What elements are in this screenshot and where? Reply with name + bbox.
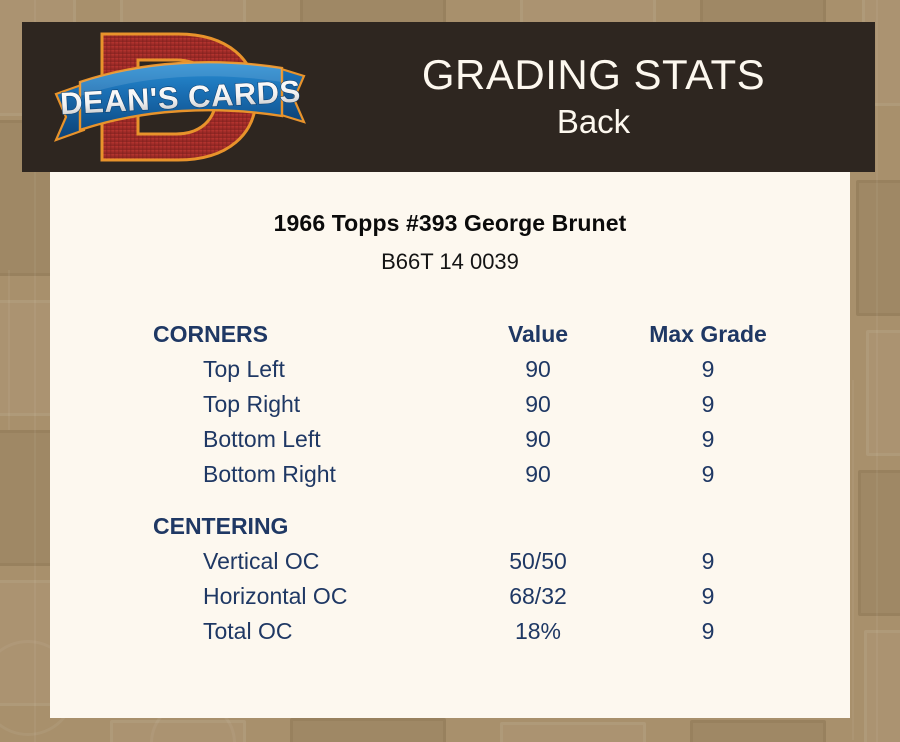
card-serial-number: B66T 14 0039 [50,249,850,275]
grading-stats-table: CORNERS Value Max Grade Top Left 90 9 To… [50,315,850,649]
table-row: Bottom Right 90 9 [153,457,793,492]
row-label: Top Right [153,387,453,422]
section-title-centering: CENTERING [153,507,453,544]
row-value: 90 [453,422,623,457]
header-bar: DEAN'S CARDS GRADING STATS Back [22,22,875,172]
section-spacer [153,492,793,507]
row-max-grade: 9 [623,422,793,457]
empty-cell [623,507,793,544]
row-label: Top Left [153,352,453,387]
page-subtitle: Back [557,102,630,142]
row-max-grade: 9 [623,457,793,492]
page-title: GRADING STATS [422,50,765,100]
row-label: Bottom Right [153,457,453,492]
row-value: 90 [453,352,623,387]
row-value: 68/32 [453,579,623,614]
table-row: Vertical OC 50/50 9 [153,544,793,579]
table-row: Total OC 18% 9 [153,614,793,649]
row-max-grade: 9 [623,387,793,422]
section-title-corners: CORNERS [153,315,453,352]
row-value: 50/50 [453,544,623,579]
empty-cell [453,507,623,544]
table-row: Top Right 90 9 [153,387,793,422]
table-row: Horizontal OC 68/32 9 [153,579,793,614]
deans-cards-logo: DEAN'S CARDS [50,26,310,168]
row-max-grade: 9 [623,544,793,579]
column-header-max-grade: Max Grade [623,315,793,352]
row-label: Vertical OC [153,544,453,579]
row-value: 18% [453,614,623,649]
row-max-grade: 9 [623,579,793,614]
row-value: 90 [453,387,623,422]
row-value: 90 [453,457,623,492]
section-header-corners: CORNERS Value Max Grade [153,315,793,352]
column-header-value: Value [453,315,623,352]
row-max-grade: 9 [623,352,793,387]
table-row: Bottom Left 90 9 [153,422,793,457]
card-title: 1966 Topps #393 George Brunet [50,210,850,237]
section-header-centering: CENTERING [153,507,793,544]
row-label: Total OC [153,614,453,649]
content-panel: 1966 Topps #393 George Brunet B66T 14 00… [50,172,850,718]
row-label: Horizontal OC [153,579,453,614]
row-max-grade: 9 [623,614,793,649]
row-label: Bottom Left [153,422,453,457]
table-row: Top Left 90 9 [153,352,793,387]
